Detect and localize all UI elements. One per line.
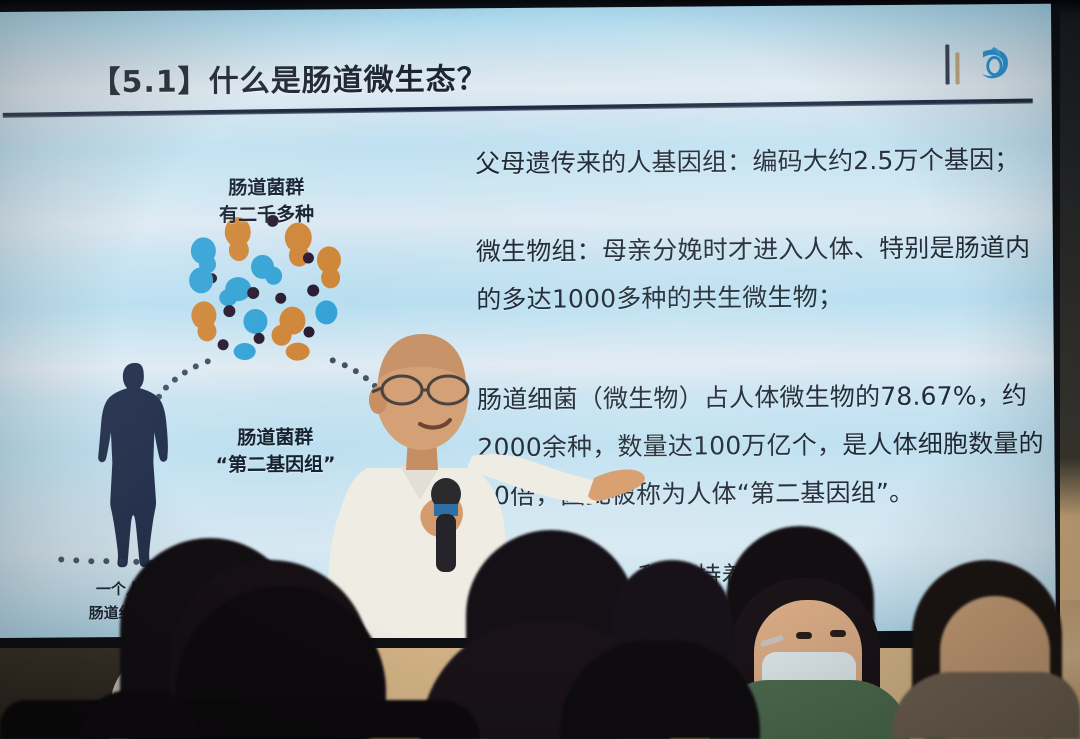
slide-paragraph-1: 父母遗传来的人基因组：编码大约2.5万个基因； [475, 136, 1043, 188]
audience-shoulders [892, 672, 1080, 739]
bacteria-dot [303, 252, 314, 263]
logo-bar-tan [955, 52, 959, 84]
bacteria-blob [229, 239, 249, 261]
bacteria-dot [247, 287, 259, 299]
brand-logo [939, 40, 1017, 89]
bacteria-blob [265, 267, 282, 285]
bacteria-blob [189, 267, 213, 293]
logo-swirl-icon [973, 42, 1015, 86]
title-divider-rule [3, 99, 1033, 118]
cluster-label: 肠道菌群 有二千多种 [181, 174, 351, 229]
logo-bar-dark [945, 44, 949, 84]
bacteria-dot [275, 293, 286, 304]
cluster-label-line2: 有二千多种 [182, 201, 352, 229]
cluster-label-line1: 肠道菌群 [181, 174, 351, 202]
bacteria-blob [197, 321, 216, 341]
bacteria-dot [223, 305, 235, 317]
bacteria-dot [307, 284, 319, 296]
bacteria-blob [321, 267, 340, 288]
photo-scene: 【5.1】什么是肠道微生态？ [0, 0, 1080, 739]
attendee-eye [830, 630, 846, 637]
slide-title: 【5.1】什么是肠道微生态？ [90, 54, 487, 101]
attendee-eye [796, 632, 812, 639]
bacteria-dot [218, 339, 229, 350]
slide-paragraph-2: 微生物组：母亲分娩时才进入人体、特别是肠道内的多达1000多种的共生微生物； [476, 224, 1045, 324]
audience-foreground-row [0, 700, 480, 739]
bacteria-blob [219, 289, 237, 306]
